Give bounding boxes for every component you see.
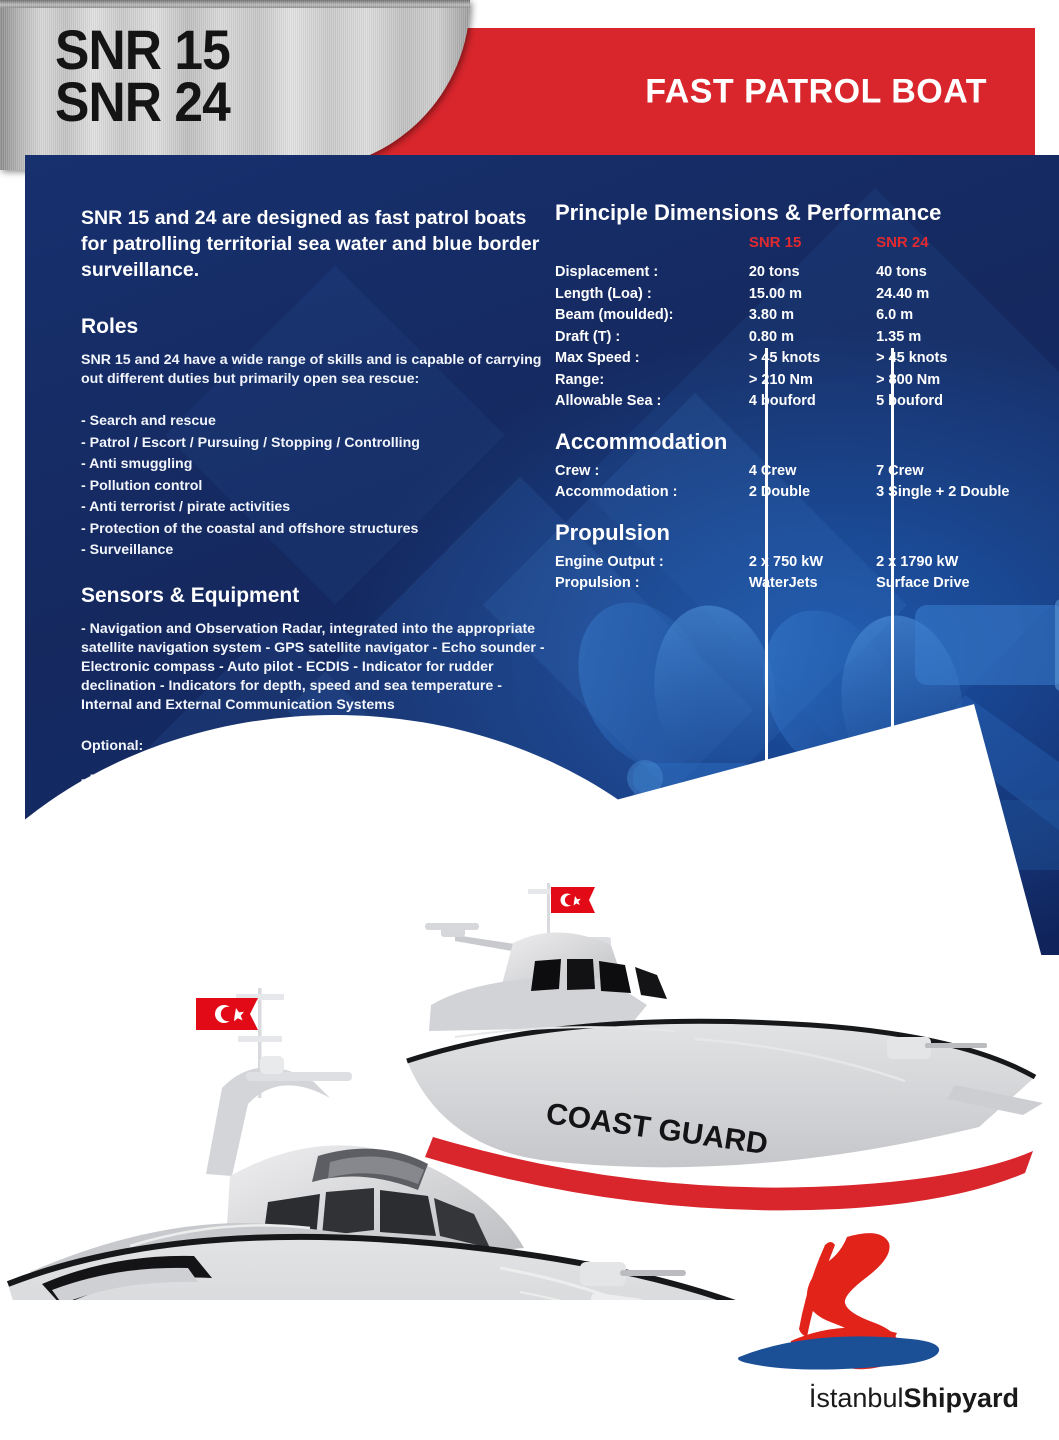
logo-mark (729, 1229, 1019, 1379)
boat-rear: COAST GUARD (407, 883, 1043, 1210)
model-name-title: SNR 15 SNR 24 (55, 24, 230, 128)
sensors-text: - Navigation and Observation Radar, inte… (81, 620, 551, 715)
specification-column: Principle Dimensions & Performance SNR 1… (555, 200, 1055, 597)
row-value-snr24: > 800 Nm (876, 372, 1055, 388)
row-label: Beam (moulded): (555, 307, 749, 323)
model-name-line-1: SNR 15 (55, 24, 230, 76)
table-row: Engine Output : 2 x 750 kW 2 x 1790 kW (555, 554, 1055, 576)
row-value-snr15: 4 bouford (749, 393, 876, 409)
row-value-snr15: 0.80 m (749, 329, 876, 345)
list-item: - Pollution control (81, 476, 551, 498)
row-label: Displacement : (555, 264, 749, 280)
row-value-snr15: WaterJets (749, 575, 876, 591)
page-title: FAST PATROL BOAT (645, 72, 987, 111)
row-label: Length (Loa) : (555, 286, 749, 302)
accommodation-heading: Accommodation (555, 429, 1055, 455)
table-row: Propulsion : WaterJets Surface Drive (555, 575, 1055, 597)
list-item: - Search and rescue (81, 411, 551, 433)
row-value-snr24: 2 x 1790 kW (876, 554, 1055, 570)
table-row: Length (Loa) : 15.00 m 24.40 m (555, 286, 1055, 308)
row-label: Draft (T) : (555, 329, 749, 345)
row-value-snr15: 15.00 m (749, 286, 876, 302)
row-value-snr24: 7 Crew (876, 463, 1055, 479)
roles-list: - Search and rescue - Patrol / Escort / … (81, 411, 551, 562)
list-item: - Anti smuggling (81, 454, 551, 476)
list-item: - Surveillance (81, 540, 551, 562)
column-header-snr15: SNR 15 (749, 234, 876, 251)
sensors-heading: Sensors & Equipment (81, 584, 551, 608)
table-divider-line (891, 348, 894, 770)
row-label: Engine Output : (555, 554, 749, 570)
dimensions-heading: Principle Dimensions & Performance (555, 200, 1055, 226)
table-header-row: SNR 15 SNR 24 (555, 234, 1055, 264)
roles-heading: Roles (81, 315, 551, 339)
list-item: - Protection of the coastal and offshore… (81, 519, 551, 541)
column-header-snr24: SNR 24 (876, 234, 1055, 251)
logo-word-istanbul: İstanbul (809, 1383, 904, 1413)
table-row: Max Speed : > 45 knots > 45 knots (555, 350, 1055, 372)
accommodation-table: Crew : 4 Crew 7 Crew Accommodation : 2 D… (555, 463, 1055, 506)
list-item: - Anti terrorist / pirate activities (81, 497, 551, 519)
intro-paragraph: SNR 15 and 24 are designed as fast patro… (81, 205, 551, 283)
table-row: Accommodation : 2 Double 3 Single + 2 Do… (555, 484, 1055, 506)
row-value-snr15: 2 x 750 kW (749, 554, 876, 570)
table-row: Displacement : 20 tons 40 tons (555, 264, 1055, 286)
table-divider-line (765, 348, 768, 770)
roles-intro: SNR 15 and 24 have a wide range of skill… (81, 351, 551, 389)
row-value-snr24: 1.35 m (876, 329, 1055, 345)
table-row: Range: > 210 Nm > 800 Nm (555, 372, 1055, 394)
table-row: Draft (T) : 0.80 m 1.35 m (555, 329, 1055, 351)
table-row: Crew : 4 Crew 7 Crew (555, 463, 1055, 485)
row-value-snr15: 3.80 m (749, 307, 876, 323)
table-row: Allowable Sea : 4 bouford 5 bouford (555, 393, 1055, 415)
row-value-snr24: 3 Single + 2 Double (876, 484, 1055, 500)
table-row: Beam (moulded): 3.80 m 6.0 m (555, 307, 1055, 329)
company-logo: İstanbulShipyard (729, 1229, 1019, 1414)
row-value-snr24: > 45 knots (876, 350, 1055, 366)
row-label: Max Speed : (555, 350, 749, 366)
row-value-snr24: 40 tons (876, 264, 1055, 280)
list-item: - Patrol / Escort / Pursuing / Stopping … (81, 433, 551, 455)
row-value-snr15: > 210 Nm (749, 372, 876, 388)
logo-word-shipyard: Shipyard (903, 1383, 1019, 1413)
row-label: Propulsion : (555, 575, 749, 591)
row-value-snr15: 4 Crew (749, 463, 876, 479)
propulsion-table: Engine Output : 2 x 750 kW 2 x 1790 kW P… (555, 554, 1055, 597)
row-value-snr24: 6.0 m (876, 307, 1055, 323)
logo-wordmark: İstanbulShipyard (729, 1383, 1019, 1414)
row-value-snr24: Surface Drive (876, 575, 1055, 591)
logo-wave-shape (738, 1336, 939, 1369)
plate-top-edge (0, 0, 470, 8)
model-name-line-2: SNR 24 (55, 76, 230, 128)
row-value-snr24: 5 bouford (876, 393, 1055, 409)
row-value-snr24: 24.40 m (876, 286, 1055, 302)
page-header: FAST PATROL BOAT SNR 15 SNR 24 (0, 0, 1059, 170)
row-label: Crew : (555, 463, 749, 479)
dimensions-table: SNR 15 SNR 24 Displacement : 20 tons 40 … (555, 234, 1055, 415)
propulsion-heading: Propulsion (555, 520, 1055, 546)
row-label: Allowable Sea : (555, 393, 749, 409)
row-label: Range: (555, 372, 749, 388)
row-value-snr15: > 45 knots (749, 350, 876, 366)
row-value-snr15: 20 tons (749, 264, 876, 280)
row-value-snr15: 2 Double (749, 484, 876, 500)
row-label: Accommodation : (555, 484, 749, 500)
